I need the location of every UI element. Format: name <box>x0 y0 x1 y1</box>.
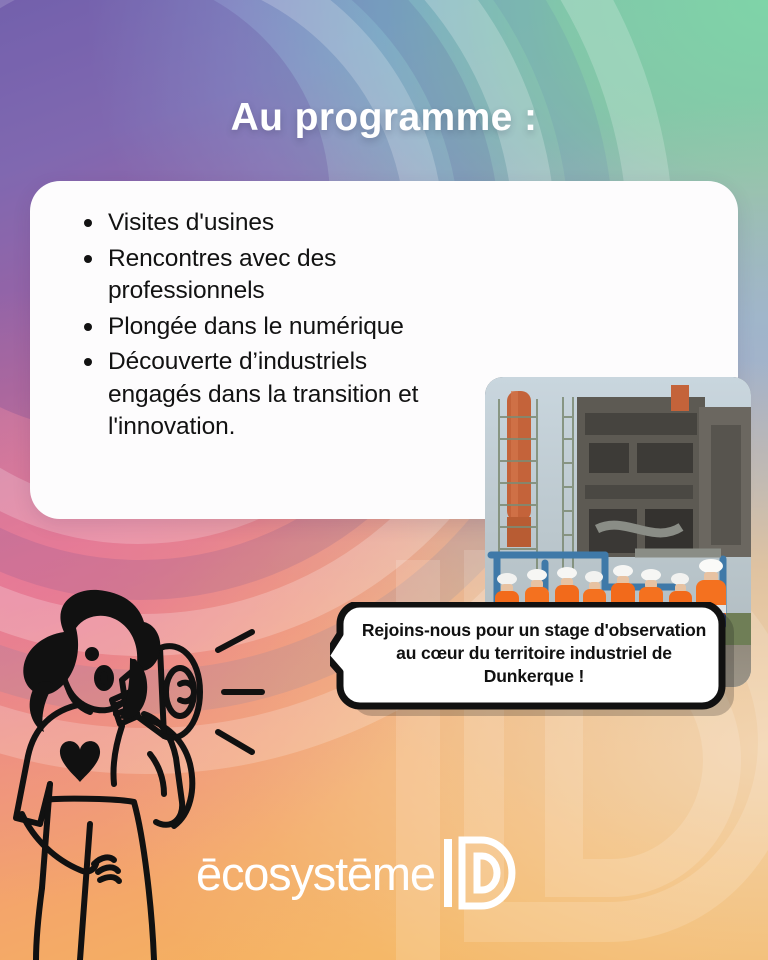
poster-canvas: Au programme : Visites d'usines Rencontr… <box>0 0 768 960</box>
speech-bubble: Rejoins-nous pour un stage d'observation… <box>330 602 734 724</box>
list-item: Visites d'usines <box>82 207 430 240</box>
list-item: Découverte d’industriels engagés dans la… <box>82 346 430 444</box>
program-list: Visites d'usines Rencontres avec des pro… <box>30 181 430 447</box>
brand-d-monogram-icon <box>441 834 517 912</box>
program-card: Visites d'usines Rencontres avec des pro… <box>30 181 738 519</box>
speech-bubble-text: Rejoins-nous pour un stage d'observation… <box>358 619 710 688</box>
page-title: Au programme : <box>0 96 768 140</box>
brand-logo: ēcosystēme <box>196 834 517 912</box>
list-item: Plongée dans le numérique <box>82 311 430 344</box>
list-item: Rencontres avec des professionnels <box>82 243 430 308</box>
brand-wordmark: ēcosystēme <box>196 850 435 897</box>
